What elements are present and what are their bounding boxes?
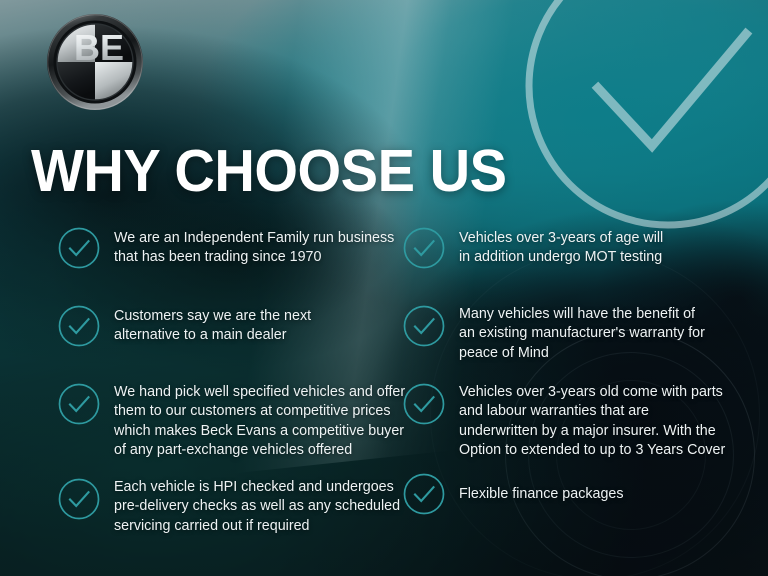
benefit-line: pre-delivery checks as well as any sched… — [114, 497, 400, 516]
benefit-line: servicing carried out if required — [114, 517, 400, 536]
check-circle-icon — [403, 227, 445, 269]
check-circle-icon — [58, 227, 100, 269]
benefit-line: Vehicles over 3-years old come with part… — [459, 383, 725, 402]
benefit-text: We are an Independent Family run busines… — [114, 227, 394, 268]
benefit-line: Many vehicles will have the benefit of — [459, 305, 705, 324]
benefit-line: Each vehicle is HPI checked and undergoe… — [114, 478, 400, 497]
check-circle-icon — [58, 383, 100, 425]
be-roundel-badge-logo-icon[interactable]: BE — [45, 12, 145, 112]
benefit-text: Flexible finance packages — [459, 473, 624, 504]
benefit-line: which makes Beck Evans a competitive buy… — [114, 422, 405, 441]
benefit-line: We are an Independent Family run busines… — [114, 229, 394, 248]
check-circle-icon — [58, 478, 100, 520]
benefit-line: of any part-exchange vehicles offered — [114, 441, 405, 460]
logo-wordmark: BE — [74, 27, 124, 68]
benefit-text: Each vehicle is HPI checked and undergoe… — [114, 478, 400, 536]
slide-canvas: BE WHY CHOOSE US We are an Independent F… — [0, 0, 768, 576]
benefit-item: We hand pick well specified vehicles and… — [58, 383, 405, 461]
check-circle-icon — [58, 305, 100, 347]
benefit-line: in addition undergo MOT testing — [459, 248, 663, 267]
benefit-text: Vehicles over 3-years old come with part… — [459, 383, 725, 461]
benefit-line: them to our customers at competitive pri… — [114, 402, 405, 421]
benefit-line: that has been trading since 1970 — [114, 248, 394, 267]
benefit-item: Vehicles over 3-years of age will in add… — [403, 227, 663, 269]
benefit-line: alternative to a main dealer — [114, 326, 311, 345]
benefit-item: Many vehicles will have the benefit of a… — [403, 305, 705, 363]
benefit-text: Many vehicles will have the benefit of a… — [459, 305, 705, 363]
benefit-item: Vehicles over 3-years old come with part… — [403, 383, 725, 461]
benefit-line: an existing manufacturer's warranty for — [459, 324, 705, 343]
benefit-text: We hand pick well specified vehicles and… — [114, 383, 405, 461]
benefit-line: peace of Mind — [459, 344, 705, 363]
benefit-line: Customers say we are the next — [114, 307, 311, 326]
benefit-line: underwritten by a major insurer. With th… — [459, 422, 725, 441]
benefit-item: Each vehicle is HPI checked and undergoe… — [58, 478, 400, 536]
benefit-line: We hand pick well specified vehicles and… — [114, 383, 405, 402]
benefit-item: We are an Independent Family run busines… — [58, 227, 394, 269]
check-circle-icon — [403, 383, 445, 425]
benefit-item: Customers say we are the next alternativ… — [58, 305, 311, 347]
page-title: WHY CHOOSE US — [31, 140, 507, 202]
benefit-text: Customers say we are the next alternativ… — [114, 305, 311, 346]
check-circle-icon — [403, 305, 445, 347]
benefit-line: Option to extended to up to 3 Years Cove… — [459, 441, 725, 460]
check-circle-icon — [403, 473, 445, 515]
benefit-line: and labour warranties that are — [459, 402, 725, 421]
benefit-item: Flexible finance packages — [403, 473, 624, 515]
benefit-line: Flexible finance packages — [459, 485, 624, 504]
benefit-line: Vehicles over 3-years of age will — [459, 229, 663, 248]
large-check-circle-watermark-icon — [520, 0, 768, 234]
benefit-text: Vehicles over 3-years of age will in add… — [459, 227, 663, 268]
